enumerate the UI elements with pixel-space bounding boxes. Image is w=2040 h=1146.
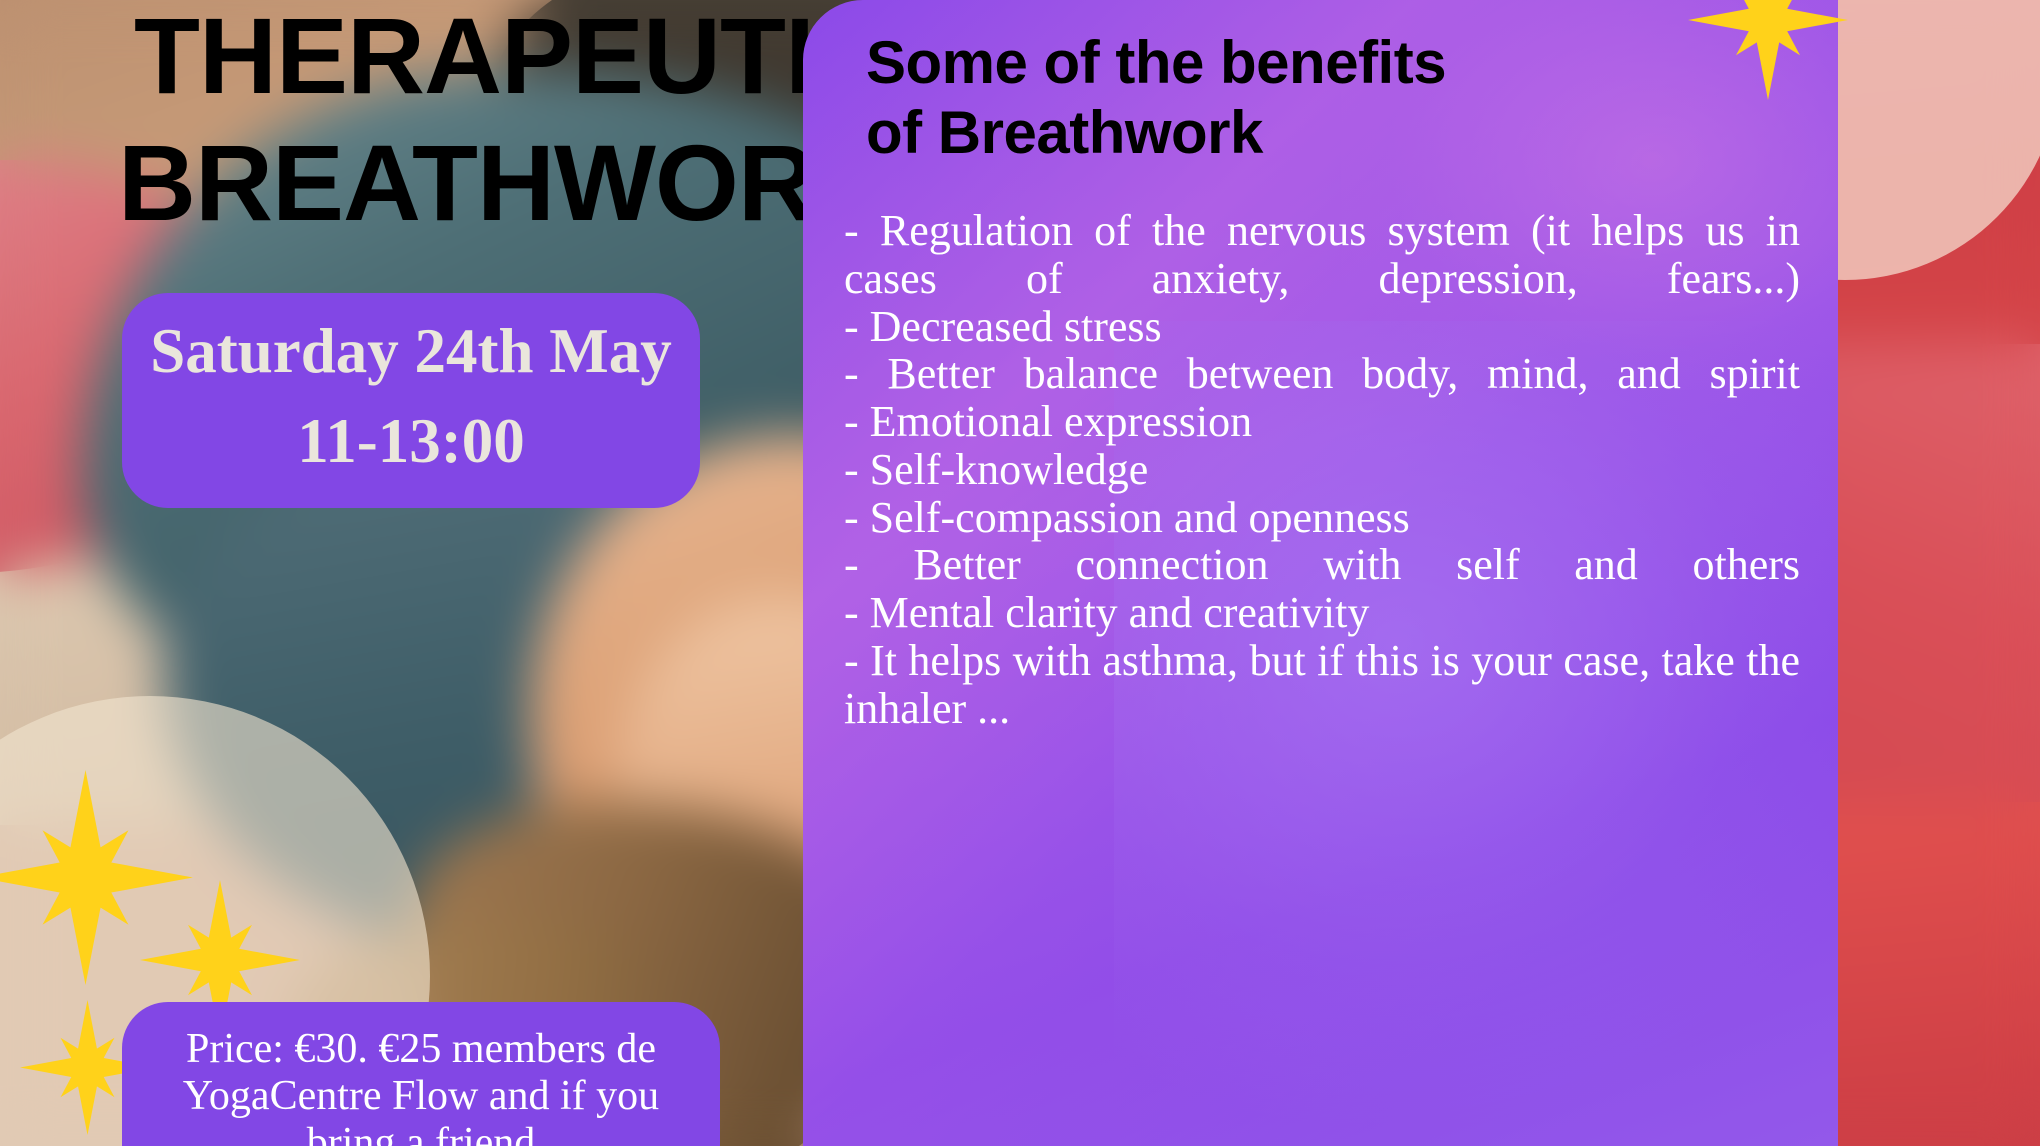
benefit-item: - Self-knowledge [844, 446, 1800, 494]
benefit-item: - Better balance between body, mind, and… [844, 350, 1800, 398]
benefits-heading-line1: Some of the benefits [866, 28, 1808, 98]
event-date: Saturday 24th May [150, 307, 672, 396]
benefit-item: - Decreased stress [844, 303, 1800, 351]
benefit-item: - Mental clarity and creativity [844, 589, 1800, 637]
benefit-item: - It helps with asthma, but if this is y… [844, 637, 1800, 732]
price-line3: bring a friend [152, 1120, 690, 1146]
price-line2: YogaCentre Flow and if you [152, 1073, 690, 1120]
benefit-item: - Self-compassion and openness [844, 494, 1800, 542]
poster-canvas: THERAPEUTIC BREATHWORK Saturday 24th May… [0, 0, 2040, 1146]
benefits-heading: Some of the benefits of Breathwork [866, 28, 1808, 167]
benefits-panel: Some of the benefits of Breathwork - Reg… [803, 0, 1838, 1146]
price-badge: Price: €30. €25 members de YogaCentre Fl… [122, 1002, 720, 1146]
benefits-heading-line2: of Breathwork [866, 98, 1808, 168]
event-time: 11-13:00 [297, 397, 524, 486]
date-time-badge: Saturday 24th May 11-13:00 [122, 293, 700, 508]
benefit-item: - Regulation of the nervous system (it h… [844, 207, 1800, 302]
benefit-item: - Emotional expression [844, 398, 1800, 446]
price-line1: Price: €30. €25 members de [152, 1026, 690, 1073]
benefits-list: - Regulation of the nervous system (it h… [844, 207, 1800, 732]
benefit-item: - Better connection with self and others [844, 541, 1800, 589]
